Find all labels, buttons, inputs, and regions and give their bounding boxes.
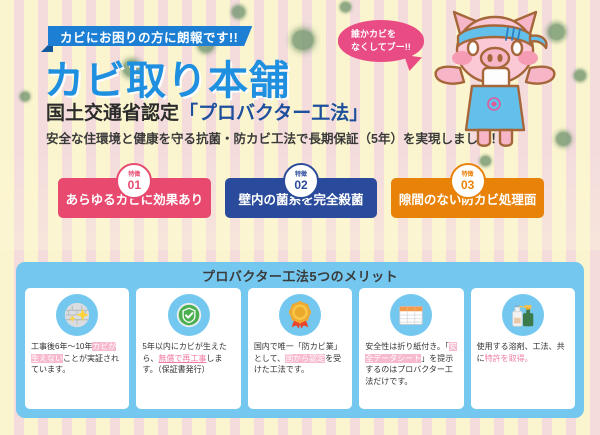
merit-card-text: 工事後6年〜10年カビが生えないことが実証されています。: [31, 341, 123, 376]
subtitle-accent: 「プロバクター工法」: [179, 103, 368, 124]
mold-blob-icon: [232, 6, 245, 18]
merit-card[interactable]: 国内で唯一「防カビ業」として、国から認定を受けた工法です。: [248, 288, 352, 409]
merit-card-list: 工事後6年〜10年カビが生えないことが実証されています。 5年以内にカビが生えた…: [16, 288, 584, 409]
mold-blob-icon: [20, 92, 30, 101]
merits-panel: プロバクター工法5つのメリット 工事後6年〜10年カビが生えないことが実証されて…: [16, 262, 584, 418]
merit-card-text: 国内で唯一「防カビ業」として、国から認定を受けた工法です。: [254, 341, 346, 376]
feature-badge-label: 特徴: [462, 172, 474, 178]
merit-card-text: 5年以内にカビが生えたら、無償で再工事します。（保証書発行）: [142, 341, 234, 376]
merit-text-segment: 国から認定: [285, 354, 325, 363]
announcement-ribbon: カビにお困りの方に朗報です!!: [48, 26, 252, 46]
feature-box-02[interactable]: 特徴02壁内の菌糸を完全殺菌: [225, 178, 378, 218]
feature-box-01[interactable]: 特徴01あらゆるカビに効果あり: [58, 178, 211, 218]
feature-badge-label: 特徴: [128, 172, 140, 178]
feature-badge-03: 特徴03: [450, 163, 486, 199]
mold-blob-icon: [480, 156, 491, 166]
merits-panel-title: プロバクター工法5つのメリット: [16, 262, 584, 288]
feature-badge-number: 01: [128, 179, 141, 191]
merit-card-text: 安全性は折り紙付き。「安全データシート」を提示するのはプロバクター工法だけです。: [365, 341, 457, 387]
speech-bubble-line2: なくしてブー!!: [351, 41, 424, 55]
mold-blob-icon: [292, 30, 314, 50]
merit-card-text: 使用する溶剤、工法、共に特許を取得。: [477, 341, 569, 364]
feature-badge-01: 特徴01: [116, 163, 152, 199]
spray-bottle-detergent-icon: [502, 294, 544, 336]
merit-text-segment: 無償で再工事: [158, 354, 206, 363]
speech-bubble-line1: 誰かカビを: [351, 28, 424, 42]
feature-badge-number: 03: [461, 179, 474, 191]
pig-mascot-icon: [430, 6, 580, 156]
merit-text-segment: 工事後6年〜10年: [31, 342, 92, 351]
gold-award-ribbon-icon: [279, 294, 321, 336]
merit-text-segment: 安全性は折り紙付き。「: [365, 342, 449, 351]
mold-blob-icon: [340, 2, 351, 12]
feature-badge-label: 特徴: [295, 172, 307, 178]
merit-card[interactable]: 安全性は折り紙付き。「安全データシート」を提示するのはプロバクター工法だけです。: [359, 288, 463, 409]
green-shield-check-icon: [168, 294, 210, 336]
feature-badge-number: 02: [294, 179, 307, 191]
subtitle-prefix: 国土交通省認定: [46, 103, 179, 124]
merit-card[interactable]: 使用する溶剤、工法、共に特許を取得。: [471, 288, 575, 409]
speech-bubble: 誰かカビを なくしてブー!!: [338, 20, 424, 62]
merit-card[interactable]: 工事後6年〜10年カビが生えないことが実証されています。: [25, 288, 129, 409]
brick-wall-sparkle-icon: [56, 294, 98, 336]
merit-card[interactable]: 5年以内にカビが生えたら、無償で再工事します。（保証書発行）: [136, 288, 240, 409]
subtitle: 国土交通省認定「プロバクター工法」: [46, 98, 368, 125]
data-sheet-table-icon: [390, 294, 432, 336]
ribbon-label: カビにお困りの方に朗報です!!: [60, 27, 238, 46]
merit-text-segment: 特許を取得。: [485, 354, 533, 363]
feature-box-list: 特徴01あらゆるカビに効果あり特徴02壁内の菌糸を完全殺菌特徴03隙間のない防カ…: [58, 178, 544, 218]
feature-box-03[interactable]: 特徴03隙間のない防カビ処理面: [391, 178, 544, 218]
feature-badge-02: 特徴02: [283, 163, 319, 199]
